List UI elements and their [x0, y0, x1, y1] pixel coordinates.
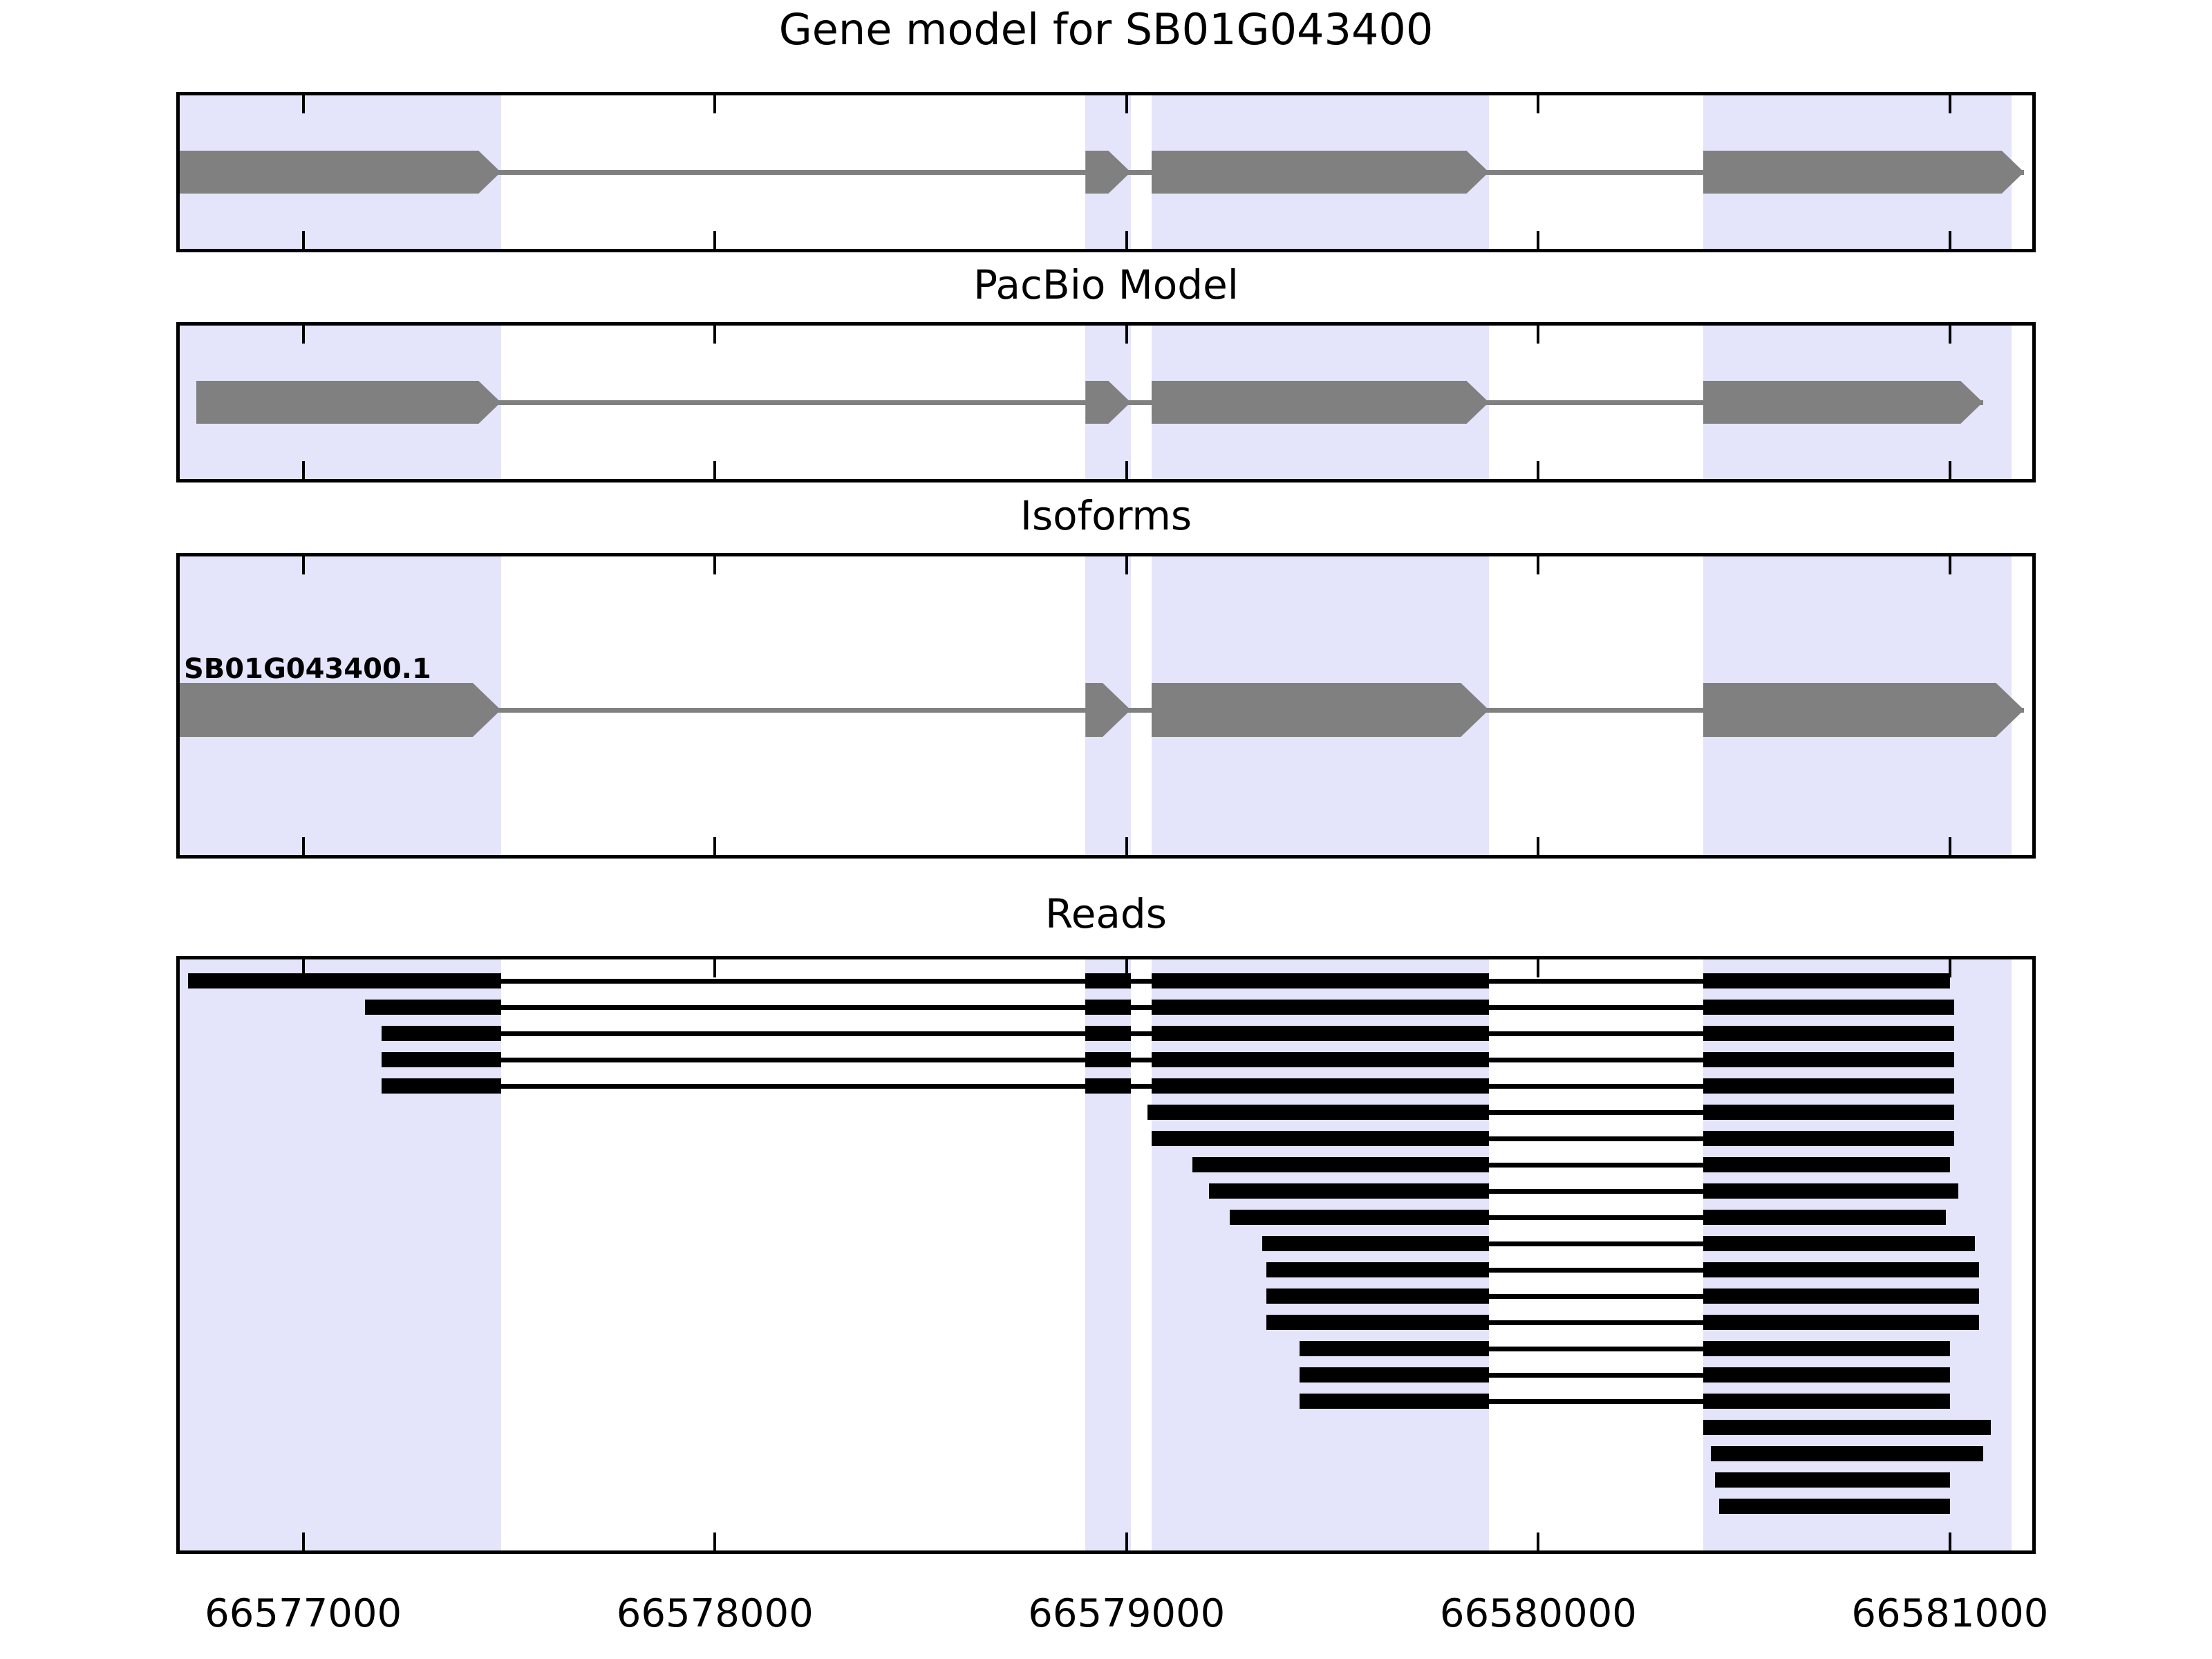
read-exon-block: [1703, 1131, 1954, 1146]
read-exon-block: [1300, 1367, 1489, 1382]
panel-pacbio-model: [176, 322, 2036, 482]
read-exon-block: [1703, 1105, 1954, 1120]
x-axis-tick-label: 66581000: [1851, 1591, 2048, 1636]
axis-tick-mark: [302, 461, 305, 479]
axis-tick-mark: [302, 326, 305, 344]
read-exon-block: [1085, 1000, 1131, 1015]
read-exon-block: [365, 1000, 501, 1015]
exon-block: [1152, 381, 1489, 424]
read-exon-block: [1703, 1078, 1954, 1094]
panel-title-isoforms: Isoforms: [0, 492, 2212, 539]
axis-tick-mark: [713, 837, 716, 855]
exon-block: [1703, 381, 1983, 424]
axis-tick-mark: [1537, 837, 1539, 855]
read-exon-block: [1152, 1131, 1489, 1146]
exon-block: [196, 381, 501, 424]
axis-tick-mark: [713, 95, 716, 113]
panel-title-pacbio-model: PacBio Model: [0, 261, 2212, 308]
x-axis-tick-label: 66578000: [617, 1591, 814, 1636]
exon-highlight-band: [1152, 959, 1489, 1550]
read-exon-block: [382, 1078, 501, 1094]
read-exon-block: [1152, 973, 1489, 988]
read-exon-block: [1085, 1078, 1131, 1094]
gene-browser-figure: Gene model for SB01G043400 PacBio Model …: [0, 0, 2212, 1659]
panel-title-reads: Reads: [0, 890, 2212, 937]
axis-tick-mark: [1125, 95, 1128, 113]
axis-tick-mark: [1949, 95, 1951, 113]
axis-tick-mark: [1537, 231, 1539, 249]
axis-tick-mark: [302, 1533, 305, 1550]
axis-tick-mark: [1537, 556, 1539, 574]
axis-tick-mark: [713, 461, 716, 479]
read-exon-block: [1703, 1394, 1950, 1409]
read-exon-block: [1703, 1026, 1954, 1041]
exon-block: [1152, 683, 1489, 737]
read-exon-block: [1703, 1420, 1991, 1435]
read-exon-block: [1711, 1446, 1983, 1461]
read-exon-block: [1703, 1315, 1979, 1330]
axis-tick-mark: [1537, 461, 1539, 479]
axis-tick-mark: [713, 1533, 716, 1550]
read-exon-block: [1703, 1367, 1950, 1382]
axis-tick-mark: [1125, 326, 1128, 344]
read-exon-block: [1152, 1052, 1489, 1067]
page-title: Gene model for SB01G043400: [0, 4, 2212, 55]
read-exon-block: [1300, 1394, 1489, 1409]
read-exon-block: [1719, 1499, 1950, 1514]
read-exon-block: [1192, 1157, 1489, 1172]
read-exon-block: [188, 973, 501, 988]
read-exon-block: [1152, 1078, 1489, 1094]
axis-tick-mark: [1949, 1533, 1951, 1550]
read-exon-block: [1147, 1105, 1489, 1120]
axis-tick-mark: [713, 556, 716, 574]
read-exon-block: [1085, 1052, 1131, 1067]
axis-tick-mark: [713, 231, 716, 249]
read-exon-block: [1300, 1341, 1489, 1356]
axis-tick-mark: [1949, 837, 1951, 855]
x-axis-tick-label: 66577000: [205, 1591, 402, 1636]
read-exon-block: [1266, 1288, 1489, 1304]
axis-tick-mark: [1125, 1533, 1128, 1550]
axis-tick-mark: [302, 837, 305, 855]
read-exon-block: [1703, 1236, 1975, 1251]
axis-tick-mark: [302, 231, 305, 249]
axis-tick-mark: [1537, 959, 1539, 977]
x-axis-tick-label: 66580000: [1440, 1591, 1637, 1636]
axis-tick-mark: [302, 95, 305, 113]
panel-gene-model: [176, 92, 2036, 252]
axis-tick-mark: [713, 959, 716, 977]
read-exon-block: [1266, 1262, 1489, 1277]
read-exon-block: [1703, 1183, 1958, 1199]
exon-block: [180, 151, 501, 194]
read-exon-block: [1152, 1000, 1489, 1015]
axis-tick-mark: [1949, 556, 1951, 574]
axis-tick-mark: [1125, 461, 1128, 479]
read-exon-block: [1209, 1183, 1489, 1199]
read-exon-block: [1703, 1341, 1950, 1356]
read-exon-block: [1703, 1262, 1979, 1277]
read-exon-block: [1152, 1026, 1489, 1041]
axis-tick-mark: [302, 556, 305, 574]
exon-highlight-band: [1085, 959, 1131, 1550]
axis-tick-mark: [713, 326, 716, 344]
axis-tick-mark: [1949, 326, 1951, 344]
axis-tick-mark: [1537, 95, 1539, 113]
isoform-label: SB01G043400.1: [184, 653, 431, 685]
read-exon-block: [1715, 1472, 1949, 1488]
read-exon-block: [1703, 1052, 1954, 1067]
exon-block: [1152, 151, 1489, 194]
read-exon-block: [1703, 1210, 1946, 1225]
read-exon-block: [1085, 1026, 1131, 1041]
read-exon-block: [1230, 1210, 1489, 1225]
read-exon-block: [382, 1026, 501, 1041]
x-axis-tick-label: 66579000: [1028, 1591, 1225, 1636]
exon-highlight-band: [1703, 959, 2012, 1550]
axis-tick-mark: [1125, 556, 1128, 574]
exon-highlight-band: [180, 959, 501, 1550]
exon-block: [1703, 683, 2025, 737]
axis-tick-mark: [1537, 326, 1539, 344]
panel-reads: [176, 956, 2036, 1554]
axis-tick-mark: [1949, 461, 1951, 479]
read-exon-block: [1703, 1288, 1979, 1304]
axis-tick-mark: [1125, 231, 1128, 249]
exon-block: [180, 683, 501, 737]
read-exon-block: [382, 1052, 501, 1067]
panel-isoforms: SB01G043400.1: [176, 553, 2036, 859]
read-exon-block: [1085, 973, 1131, 988]
read-exon-block: [1703, 1157, 1950, 1172]
axis-tick-mark: [1949, 231, 1951, 249]
read-exon-block: [1703, 1000, 1954, 1015]
read-exon-block: [1266, 1315, 1489, 1330]
read-exon-block: [1262, 1236, 1489, 1251]
axis-tick-mark: [1537, 1533, 1539, 1550]
axis-tick-mark: [1125, 837, 1128, 855]
read-exon-block: [1703, 973, 1950, 988]
exon-block: [1703, 151, 2025, 194]
